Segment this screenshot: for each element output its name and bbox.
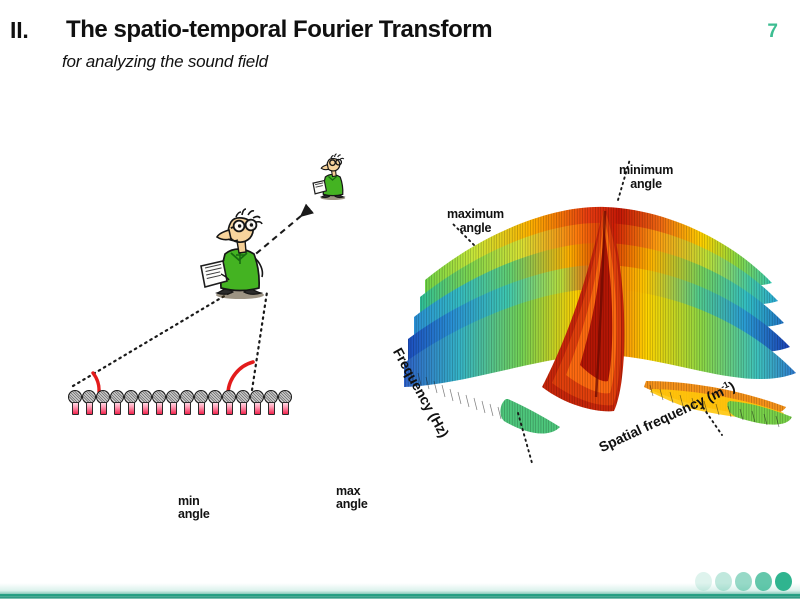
microphone-element (96, 390, 110, 416)
progress-dot-4 (755, 572, 772, 591)
microphone-element (236, 390, 250, 416)
min-angle-label-line1: min (178, 494, 200, 508)
person-near-illustration (195, 208, 281, 300)
max-angle-label-line1: max (336, 484, 360, 498)
slide-header: II. The spatio-temporal Fourier Transfor… (0, 0, 800, 95)
microphone-element (68, 390, 82, 416)
microphone-element (166, 390, 180, 416)
microphone-body-icon (240, 402, 247, 415)
footer-rule (0, 594, 800, 596)
maximum-angle-annotation: maximum angle (447, 207, 504, 235)
microphone-body-icon (254, 402, 261, 415)
microphone-element (138, 390, 152, 416)
microphone-element (278, 390, 292, 416)
progress-dot-5 (775, 572, 792, 591)
min-angle-label-line2: angle (178, 507, 210, 521)
max-angle-label: max angle (336, 485, 368, 511)
slide-canvas: II. The spatio-temporal Fourier Transfor… (0, 0, 800, 599)
person-far-illustration (310, 152, 354, 202)
microphone-element (264, 390, 278, 416)
min-angle-label: min angle (178, 495, 210, 521)
microphone-body-icon (226, 402, 233, 415)
microphone-body-icon (282, 402, 289, 415)
minimum-angle-annotation: minimum angle (619, 163, 673, 191)
microphone-element (250, 390, 264, 416)
microphone-array (68, 390, 292, 416)
minimum-angle-line2: angle (630, 177, 662, 191)
page-subtitle: for analyzing the sound field (62, 52, 268, 72)
maximum-angle-line2: angle (460, 221, 492, 235)
microphone-body-icon (156, 402, 163, 415)
array-listening-angles-diagram: min angle max angle (55, 140, 365, 430)
microphone-body-icon (100, 402, 107, 415)
microphone-body-icon (170, 402, 177, 415)
page-title: The spatio-temporal Fourier Transform (66, 16, 492, 44)
maximum-angle-line1: maximum (447, 207, 504, 221)
microphone-body-icon (128, 402, 135, 415)
min-angle-sight-line (73, 292, 231, 386)
page-number: 7 (767, 21, 778, 43)
microphone-element (110, 390, 124, 416)
microphone-body-icon (72, 402, 79, 415)
microphone-element (82, 390, 96, 416)
progress-dot-1 (695, 572, 712, 591)
microphone-element (124, 390, 138, 416)
microphone-element (152, 390, 166, 416)
microphone-body-icon (268, 402, 275, 415)
progress-dots (695, 569, 792, 591)
progress-dot-3 (735, 572, 752, 591)
max-angle-arc (228, 362, 253, 393)
section-number: II. (10, 17, 29, 44)
microphone-element (222, 390, 236, 416)
microphone-element (208, 390, 222, 416)
microphone-element (194, 390, 208, 416)
progress-dot-2 (715, 572, 732, 591)
microphone-body-icon (142, 402, 149, 415)
surface-mesh (404, 159, 798, 463)
minimum-angle-line1: minimum (619, 163, 673, 177)
microphone-body-icon (184, 402, 191, 415)
microphone-element (180, 390, 194, 416)
max-angle-sight-line (252, 292, 267, 390)
microphone-body-icon (198, 402, 205, 415)
max-angle-label-line2: angle (336, 497, 368, 511)
microphone-body-icon (86, 402, 93, 415)
microphone-body-icon (212, 402, 219, 415)
microphone-body-icon (114, 402, 121, 415)
